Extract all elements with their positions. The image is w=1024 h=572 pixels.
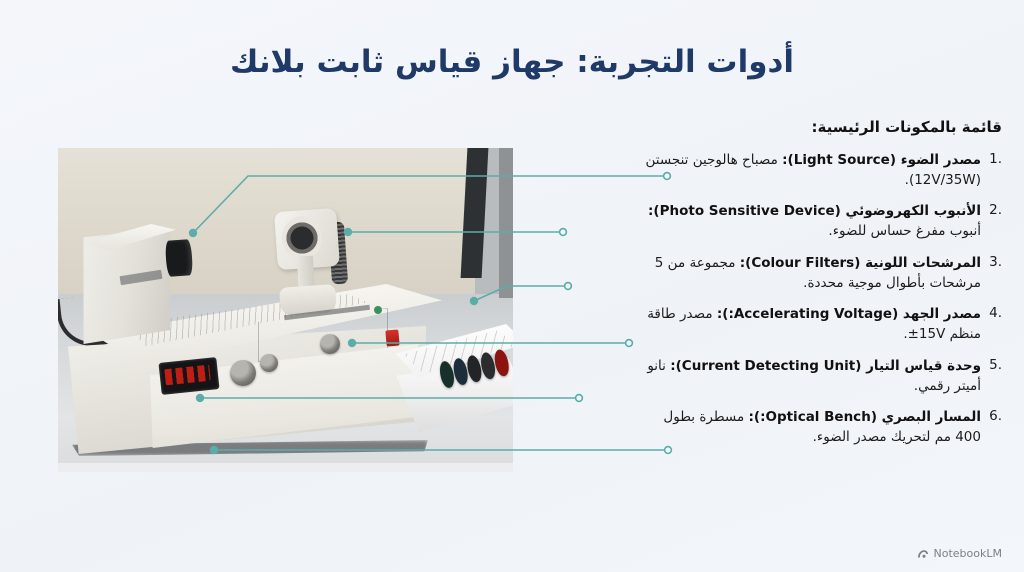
- list-item-number: 5.: [987, 356, 1002, 376]
- list-item: 3. المرشحات اللونية (Colour Filters): مج…: [642, 253, 1002, 294]
- list-item-title: الأنبوب الكهروضوئي (Photo Sensitive Devi…: [648, 203, 981, 219]
- slide-root: أدوات التجربة: جهاز قياس ثابت بلانك: [0, 0, 1024, 572]
- list-item-body: مصدر الضوء (Light Source): مصباح هالوجين…: [642, 150, 981, 191]
- list-item-number: 1.: [987, 150, 1002, 170]
- list-item: 4. مصدر الجهد (Accelerating Voltage:): م…: [642, 304, 1002, 345]
- photo-background-box-edge: [499, 148, 513, 298]
- components-list-heading: قائمة بالمكونات الرئيسية:: [642, 118, 1002, 138]
- photo-knob-range: [320, 334, 340, 354]
- notebooklm-watermark: NotebookLM: [917, 547, 1002, 560]
- photo-power-switch: [385, 329, 399, 346]
- photo-power-led: [374, 306, 382, 314]
- list-item-title: المرشحات اللونية (Colour Filters):: [740, 255, 981, 271]
- list-item-body: المرشحات اللونية (Colour Filters): مجموع…: [642, 253, 981, 294]
- list-item-number: 2.: [987, 201, 1002, 221]
- photo-light-source-lens: [165, 239, 193, 277]
- components-list-panel: قائمة بالمكونات الرئيسية: 1. مصدر الضوء …: [642, 118, 1002, 459]
- list-item: 1. مصدر الضوء (Light Source): مصباح هالو…: [642, 150, 1002, 191]
- list-item-body: مصدر الجهد (Accelerating Voltage:): مصدر…: [642, 304, 981, 345]
- notebooklm-label: NotebookLM: [934, 547, 1002, 560]
- list-item-desc: أنبوب مفرغ حساس للضوء.: [828, 223, 981, 239]
- notebooklm-logo-icon: [917, 548, 929, 560]
- photo-colour-filter: [493, 348, 511, 377]
- list-item-body: المسار البصري (Optical Bench:): مسطرة بط…: [642, 407, 981, 448]
- list-item-title: مصدر الجهد (Accelerating Voltage:):: [717, 306, 981, 322]
- list-item: 6. المسار البصري (Optical Bench:): مسطرة…: [642, 407, 1002, 448]
- list-item-body: الأنبوب الكهروضوئي (Photo Sensitive Devi…: [642, 201, 981, 242]
- photo-knob-current: [260, 354, 278, 372]
- list-item-body: وحدة قياس التيار (Current Detecting Unit…: [642, 356, 981, 397]
- apparatus-photo: [58, 148, 513, 472]
- list-item: 5. وحدة قياس التيار (Current Detecting U…: [642, 356, 1002, 397]
- list-item-number: 4.: [987, 304, 1002, 324]
- page-title: أدوات التجربة: جهاز قياس ثابت بلانك: [0, 44, 1024, 80]
- list-item-number: 3.: [987, 253, 1002, 273]
- photo-knob-voltage: [230, 360, 256, 386]
- photo-table-edge: [58, 463, 513, 472]
- list-item-title: مصدر الضوء (Light Source):: [782, 152, 981, 168]
- list-item-title: المسار البصري (Optical Bench:):: [749, 409, 982, 425]
- list-item: 2. الأنبوب الكهروضوئي (Photo Sensitive D…: [642, 201, 1002, 242]
- list-item-title: وحدة قياس التيار (Current Detecting Unit…: [670, 358, 981, 374]
- photo-inner: [58, 148, 513, 472]
- list-item-number: 6.: [987, 407, 1002, 427]
